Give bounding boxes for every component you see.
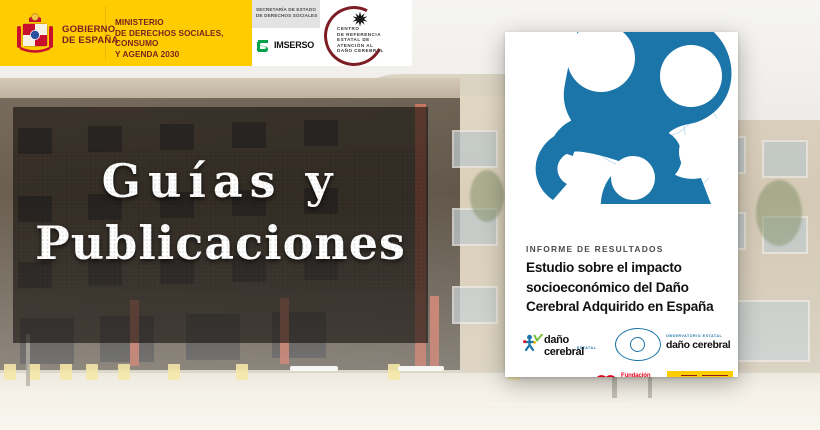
ministry-label-line-2: DE DERECHOS SOCIALES, CONSUMO — [115, 29, 250, 50]
institutional-header: GOBIERNO DE ESPAÑA MINISTERIO DE DERECHO… — [0, 0, 820, 66]
observatorio-inner-circle-icon — [630, 337, 645, 352]
imserso-mark-icon — [256, 38, 270, 54]
government-label-line-2: DE ESPAÑA — [62, 35, 119, 46]
badge-rule — [681, 375, 697, 376]
page-title: Guías y Publicaciones — [13, 150, 428, 274]
dano-cerebral-wordmark: daño cerebral — [544, 334, 607, 358]
government-label: GOBIERNO DE ESPAÑA — [62, 24, 119, 46]
government-label-line-1: GOBIERNO — [62, 24, 119, 35]
once-rings-icon — [595, 375, 619, 377]
observatorio-logo: OBSERVATORIO ESTATAL daño cerebral — [666, 334, 738, 351]
fundacion-once-logo: Fundación ONCE — [595, 372, 661, 377]
publication-cover-card[interactable]: INFORME DE RESULTADOS Estudio sobre el i… — [505, 32, 738, 377]
ministry-label: MINISTERIO DE DERECHOS SOCIALES, CONSUMO… — [115, 18, 250, 60]
dano-cerebral-logo: daño cerebral ESTATAL — [523, 331, 607, 355]
once-line-1: Fundación — [621, 373, 650, 377]
dano-cerebral-subtitle: ESTATAL — [577, 346, 596, 350]
cover-logo-row-primary: daño cerebral ESTATAL OBSERVATORIO ESTAT… — [523, 328, 723, 362]
dano-cerebral-person-icon — [523, 334, 543, 352]
ministry-yellow-badge-icon — [667, 371, 733, 377]
observatorio-top-label: OBSERVATORIO ESTATAL — [666, 334, 738, 338]
imserso-wordmark: IMSERSO — [274, 40, 314, 50]
ceadac-label-line-5: DAÑO CEREBRAL — [337, 48, 411, 54]
spain-coat-of-arms-icon — [14, 12, 56, 56]
imserso-logo: IMSERSO — [256, 36, 318, 56]
ceadac-star-icon — [352, 11, 368, 27]
cover-logo-row-secondary: Fundación ONCE — [595, 370, 735, 377]
cover-kicker: INFORME DE RESULTADOS — [526, 244, 664, 254]
secretary-label: SECRETARÍA DE ESTADO DE DERECHOS SOCIALE… — [256, 7, 318, 19]
ceadac-label: CENTRO DE REFERENCIA ESTATAL DE ATENCIÓN… — [337, 26, 411, 54]
publications-banner: Guías y Publicaciones GOBIERNO — [0, 0, 820, 430]
badge-rule — [702, 375, 728, 376]
page-title-line-1: Guías y — [13, 150, 428, 212]
ministry-label-line-1: MINISTERIO — [115, 18, 250, 29]
observatorio-wordmark: daño cerebral — [666, 339, 738, 351]
page-title-line-2: Publicaciones — [13, 212, 428, 274]
ministry-label-line-3: Y AGENDA 2030 — [115, 50, 250, 61]
secretary-label-line-2: DE DERECHOS SOCIALES — [256, 13, 318, 19]
cover-title: Estudio sobre el impacto socioeconómico … — [526, 258, 722, 317]
badge-shield-icon — [670, 375, 678, 377]
